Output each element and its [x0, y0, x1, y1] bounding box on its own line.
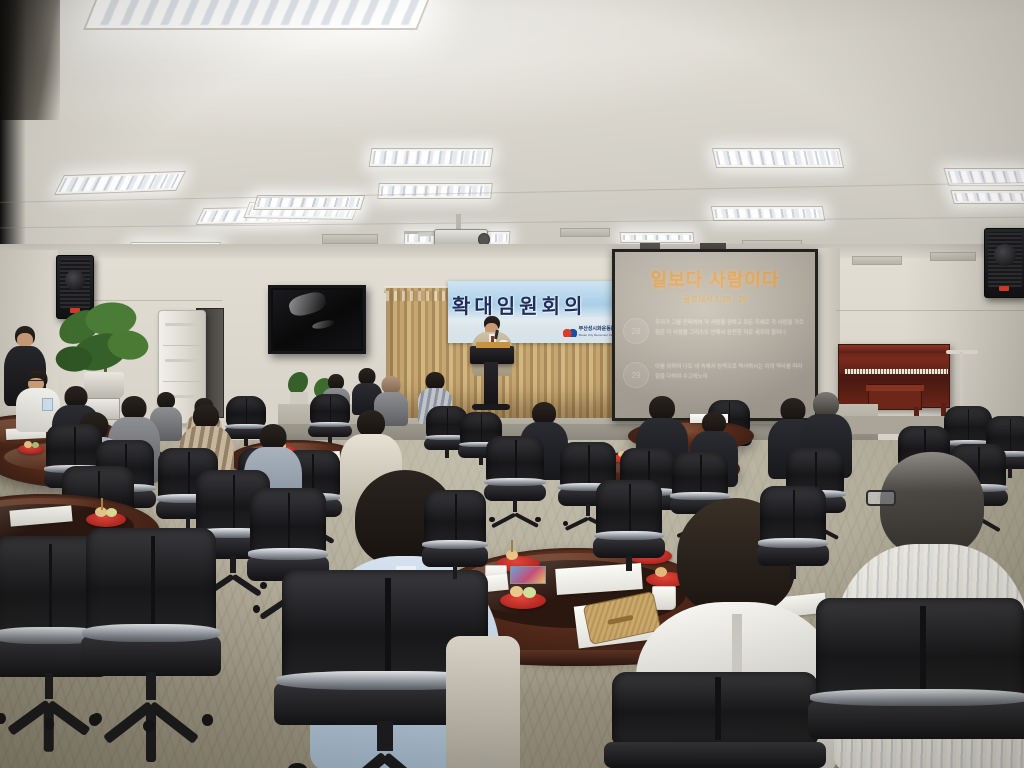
office-chair[interactable] [816, 598, 1024, 768]
podium-documents [476, 342, 510, 348]
pa-speaker-right [984, 228, 1024, 298]
office-chair[interactable] [760, 486, 826, 594]
podium-column [484, 362, 498, 408]
eyeglasses [866, 490, 896, 506]
logo-mark [563, 328, 577, 337]
office-chair[interactable] [424, 490, 486, 594]
snack-plate [500, 592, 546, 609]
verse-number: 28 [623, 318, 649, 344]
ceiling-edge-shadow [0, 0, 26, 250]
slide-verse-row: 28 우리가 그를 전파하여 각 사람을 권하고 모든 지혜로 각 사람을 가르… [623, 318, 807, 344]
verse-number: 29 [623, 362, 649, 388]
ceiling-light-fixture [369, 148, 494, 167]
verse-text: 이를 위하여 나도 내 속에서 능력으로 역사하시는 이의 역사를 따라 힘을 … [655, 362, 807, 383]
office-chair[interactable] [612, 672, 818, 768]
ceiling-light-fixture [950, 190, 1024, 204]
ceiling [0, 0, 1024, 270]
eyeglasses [28, 380, 44, 384]
handbag-clasp [607, 615, 633, 625]
snack-plate [18, 444, 44, 454]
conference-room-photo: 확대임원회의 부산성시화운동본부 Busan City Movement Cen… [0, 0, 1024, 768]
ceiling-air-vent [322, 234, 378, 244]
wall-television [268, 285, 366, 354]
attendee-trousers [446, 636, 520, 768]
face [17, 333, 33, 347]
skylight-panel [83, 0, 443, 30]
banner-headline: 확대임원회의 [452, 290, 626, 319]
verse-text: 우리가 그를 전파하여 각 사람을 권하고 모든 지혜로 각 사람을 가르침은 … [655, 318, 807, 339]
slide-verse-row: 29 이를 위하여 나도 내 속에서 능력으로 역사하시는 이의 역사를 따라 … [623, 362, 807, 388]
ceiling-air-vent [560, 228, 610, 237]
printed-leaflet [510, 566, 546, 584]
slide-subtitle: 골로새서 1:28 - 29 [615, 294, 815, 305]
ceiling-light-fixture [712, 148, 844, 168]
wall-air-vent [852, 256, 902, 265]
podium-base [472, 404, 510, 410]
office-chair[interactable] [596, 480, 662, 586]
slide-title: 일보다 사람이다 [615, 266, 815, 292]
ceiling-light-fixture [619, 232, 694, 243]
snack-plate [86, 512, 126, 527]
office-chair[interactable] [86, 528, 216, 728]
projection-screen-surface: 일보다 사람이다 골로새서 1:28 - 29 28 우리가 그를 전파하여 각… [615, 252, 815, 418]
ceiling-light-fixture [377, 183, 493, 199]
